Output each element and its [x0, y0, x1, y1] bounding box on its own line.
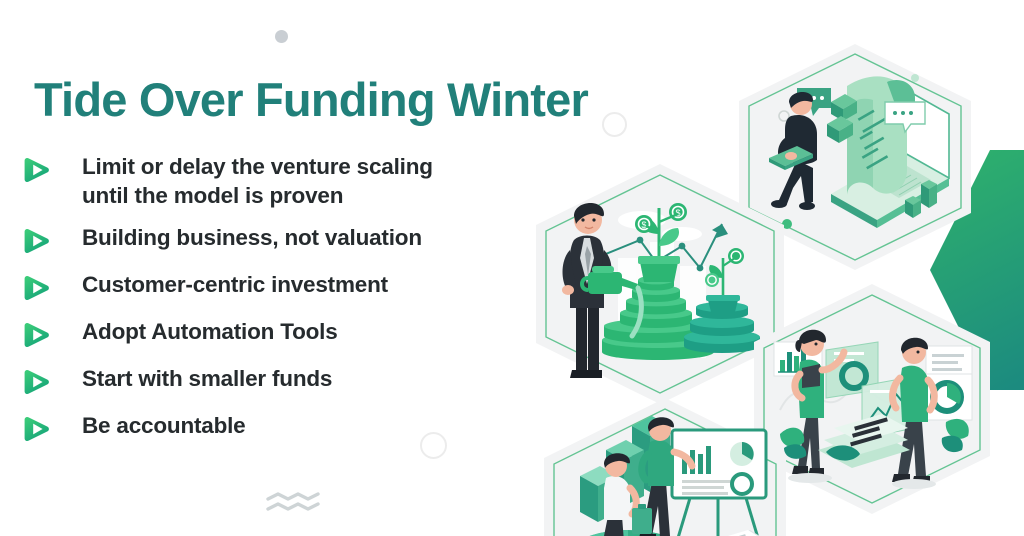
- slide-canvas: Tide Over Funding Winter Limit or delay …: [0, 0, 1024, 536]
- dot-top-decoration: [275, 30, 288, 43]
- list-item-label: Limit or delay the venture scaling until…: [82, 152, 433, 211]
- play-triangle-icon: [22, 155, 52, 185]
- play-triangle-icon: [22, 226, 52, 256]
- play-triangle-icon: [22, 414, 52, 444]
- list-item: Customer-centric investment: [22, 270, 542, 303]
- list-item: Limit or delay the venture scaling until…: [22, 152, 542, 211]
- wave-lines-decoration: [266, 492, 326, 516]
- list-item: Building business, not valuation: [22, 223, 542, 256]
- play-triangle-icon: [22, 273, 52, 303]
- list-item-label: Building business, not valuation: [82, 223, 422, 252]
- list-item: Start with smaller funds: [22, 364, 542, 397]
- illustration-cluster: $ $: [500, 0, 1024, 536]
- list-item: Be accountable: [22, 411, 542, 444]
- list-item-label: Adopt Automation Tools: [82, 317, 338, 346]
- bullet-list: Limit or delay the venture scaling until…: [22, 152, 542, 458]
- svg-text:$: $: [675, 208, 680, 218]
- list-item-label: Be accountable: [82, 411, 246, 440]
- list-item-label: Start with smaller funds: [82, 364, 332, 393]
- list-item-label: Customer-centric investment: [82, 270, 388, 299]
- list-item: Adopt Automation Tools: [22, 317, 542, 350]
- svg-text:$: $: [641, 220, 646, 230]
- illustration-presentation-charts: [540, 396, 790, 536]
- play-triangle-icon: [22, 367, 52, 397]
- play-triangle-icon: [22, 320, 52, 350]
